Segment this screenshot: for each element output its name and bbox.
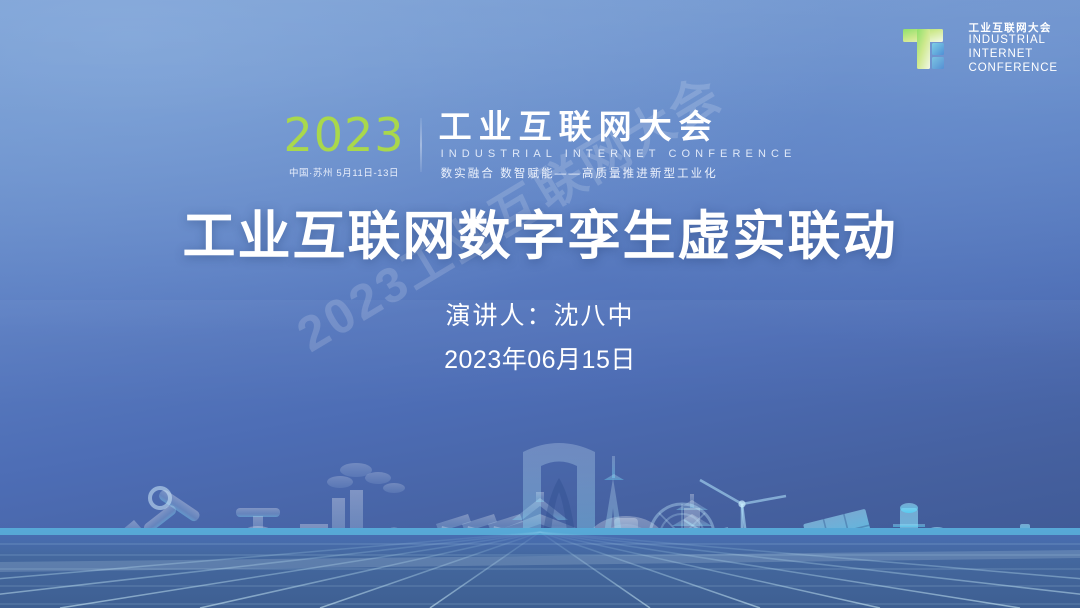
event-slogan: 数实融合 数智赋能——高质量推进新型工业化 — [441, 165, 797, 181]
conference-logo: 工业互联网大会 INDUSTRIAL INTERNET CONFERENCE — [901, 22, 1058, 75]
logo-line-conference: CONFERENCE — [968, 62, 1058, 76]
logo-line-internet: INTERNET — [968, 48, 1058, 62]
event-year-block: 2023 中国·苏州 5月11日-13日 — [284, 112, 421, 179]
event-location-dates: 中国·苏州 5月11日-13日 — [284, 165, 405, 179]
perspective-grid-floor — [0, 528, 1080, 608]
event-name-cn: 工业互联网大会 — [439, 110, 797, 145]
event-year: 2023 — [284, 112, 405, 158]
presenter-meta: 演讲人：沈八中 2023年06月15日 — [0, 298, 1080, 379]
logo-line-industrial: INDUSTRIAL — [968, 34, 1058, 48]
presentation-date: 2023年06月15日 — [0, 342, 1080, 380]
event-name-block: 工业互联网大会 INDUSTRIAL INTERNET CONFERENCE 数… — [422, 110, 797, 181]
page-title: 工业互联网数字孪生虚实联动 — [0, 205, 1080, 270]
presentation-slide: 工业互联网大会 INDUSTRIAL INTERNET CONFERENCE 2… — [0, 0, 1080, 608]
speaker-name: 演讲人：沈八中 — [0, 298, 1080, 336]
logo-title-cn: 工业互联网大会 — [968, 22, 1058, 34]
event-name-en: INDUSTRIAL INTERNET CONFERENCE — [441, 148, 797, 160]
conference-logo-mark — [901, 23, 957, 75]
event-lockup: 2023 中国·苏州 5月11日-13日 工业互联网大会 INDUSTRIAL … — [284, 110, 797, 181]
